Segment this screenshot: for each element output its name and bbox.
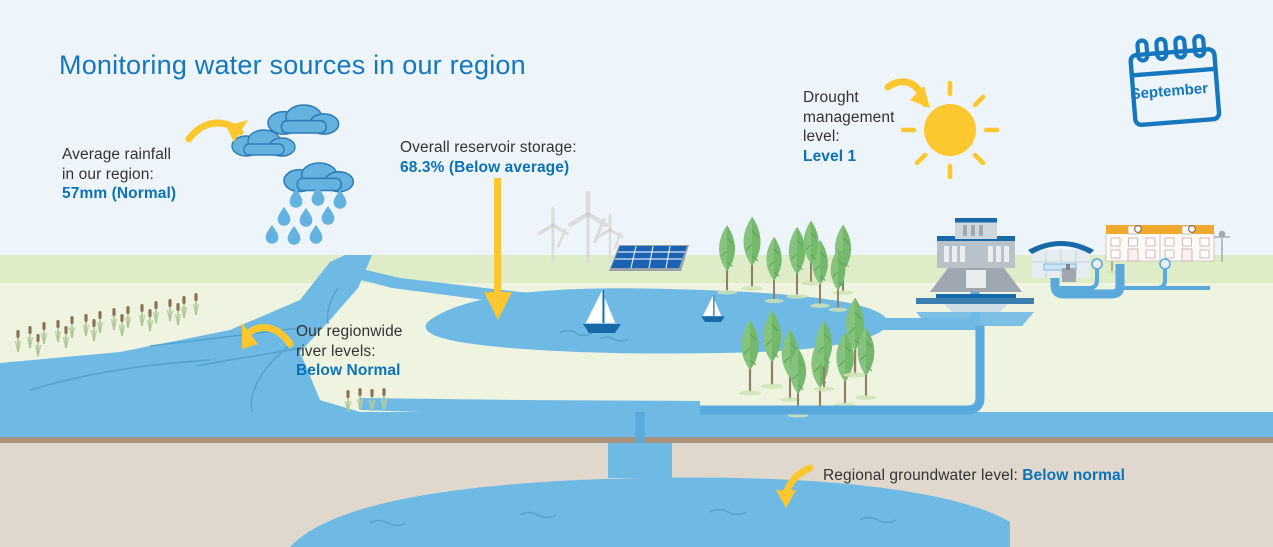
- drought-label: Drought management level: Level 1: [803, 88, 894, 166]
- water-cycle-illustration: [0, 0, 1273, 547]
- rainfall-label: Average rainfall in our region: 57mm (No…: [62, 145, 176, 204]
- sky-band: [0, 0, 1273, 262]
- river-label-text: Our regionwide river levels:: [296, 322, 403, 361]
- drought-label-text: Drought management level:: [803, 88, 894, 147]
- river-value: Below Normal: [296, 361, 403, 381]
- infographic-canvas: Monitoring water sources in our region A…: [0, 0, 1273, 547]
- reservoir-label: Overall reservoir storage: 68.3% (Below …: [400, 138, 577, 177]
- page-title: Monitoring water sources in our region: [59, 50, 526, 81]
- river-label: Our regionwide river levels: Below Norma…: [296, 322, 403, 381]
- groundwater-label: Regional groundwater level: Below normal: [823, 466, 1125, 486]
- rainfall-value: 57mm (Normal): [62, 184, 176, 204]
- solar-panel-icon: [609, 245, 689, 271]
- drought-value: Level 1: [803, 147, 894, 167]
- reservoir-value: 68.3% (Below average): [400, 158, 577, 178]
- rainfall-label-text: Average rainfall in our region:: [62, 145, 176, 184]
- reservoir-label-text: Overall reservoir storage:: [400, 138, 577, 158]
- groundwater-label-text: Regional groundwater level:: [823, 467, 1022, 484]
- groundwater-value: Below normal: [1022, 467, 1125, 484]
